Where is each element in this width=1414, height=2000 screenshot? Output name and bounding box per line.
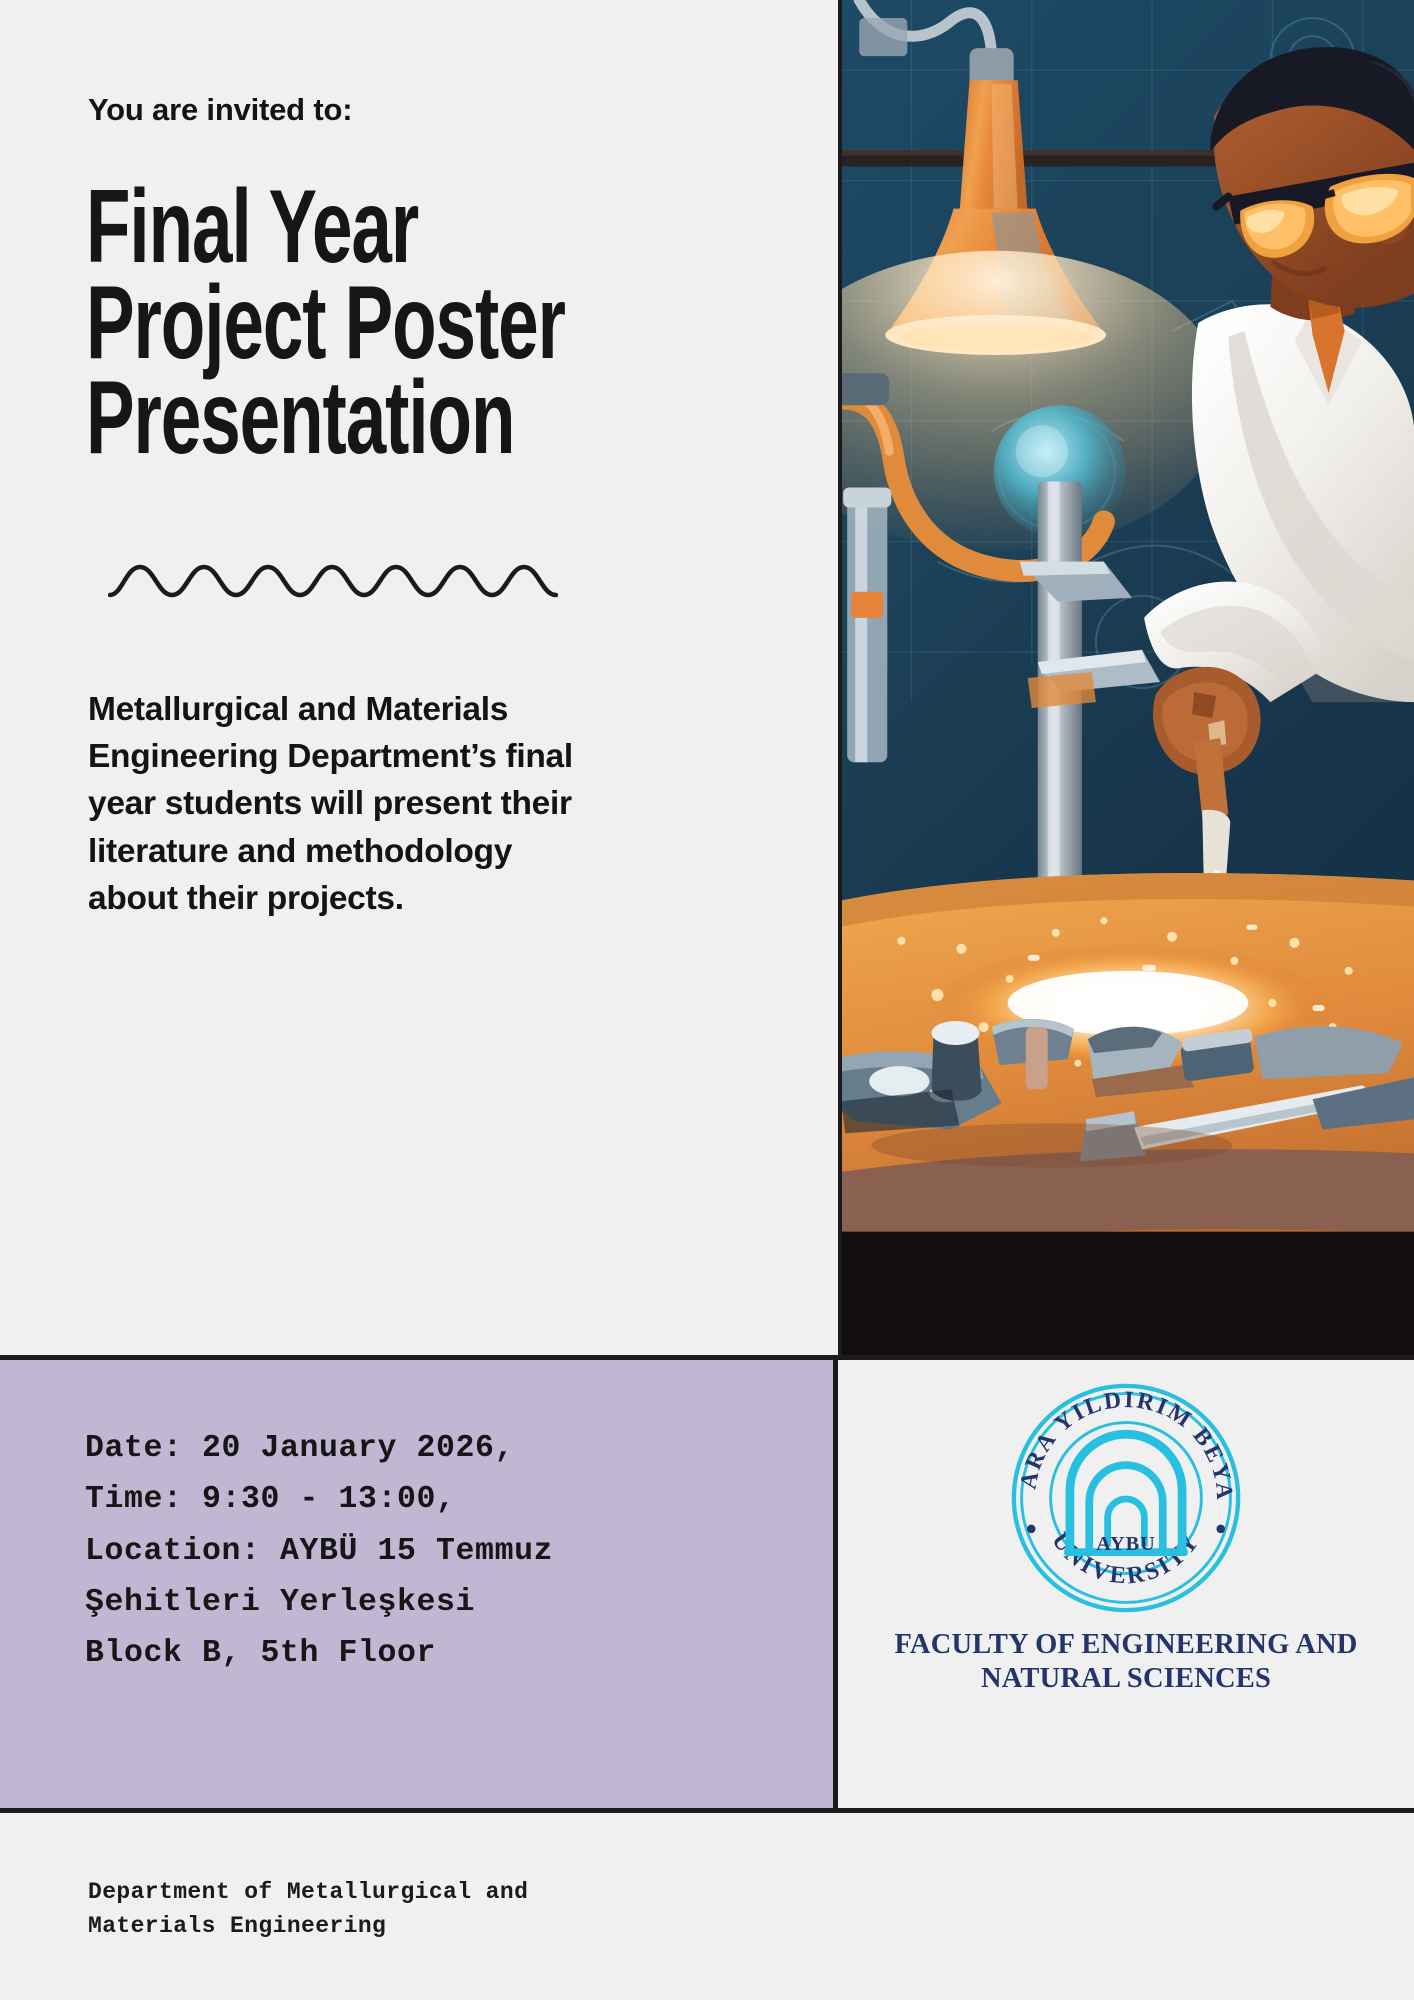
university-logo: ANKARA YILDIRIM BEYAZIT UNIVERSITY [1010,1382,1242,1614]
top-left-text-column: You are invited to: Final Year Project P… [0,0,838,1355]
aybu-seal-icon: ANKARA YILDIRIM BEYAZIT UNIVERSITY [1010,1382,1242,1614]
event-details-panel: Date: 20 January 2026, Time: 9:30 - 13:0… [0,1355,838,1813]
lab-scientist-illustration [842,0,1414,1355]
seal-text-top: ANKARA YILDIRIM BEYAZIT [1010,1382,1237,1502]
illustration-panel [838,0,1414,1355]
poster-root: You are invited to: Final Year Project P… [0,0,1414,2000]
faculty-name: FACULTY OF ENGINEERING AND NATURAL SCIEN… [838,1628,1414,1696]
department-footer-text: Department of Metallurgical and Material… [88,1875,528,1943]
page-title: Final Year Project Poster Presentation [86,180,576,467]
bottom-section: Date: 20 January 2026, Time: 9:30 - 13:0… [0,1355,1414,1813]
top-section: You are invited to: Final Year Project P… [0,0,1414,1355]
event-details-text: Date: 20 January 2026, Time: 9:30 - 13:0… [85,1423,553,1680]
invite-label: You are invited to: [88,92,352,128]
footer: Department of Metallurgical and Material… [0,1813,1414,2000]
body-copy: Metallurgical and Materials Engineering … [88,686,608,922]
svg-text:ANKARA YILDIRIM BEYAZIT: ANKARA YILDIRIM BEYAZIT [1010,1382,1237,1502]
wave-divider-icon [108,555,558,605]
seal-monogram: AYBU [1096,1533,1155,1555]
logo-panel: ANKARA YILDIRIM BEYAZIT UNIVERSITY [838,1355,1414,1813]
